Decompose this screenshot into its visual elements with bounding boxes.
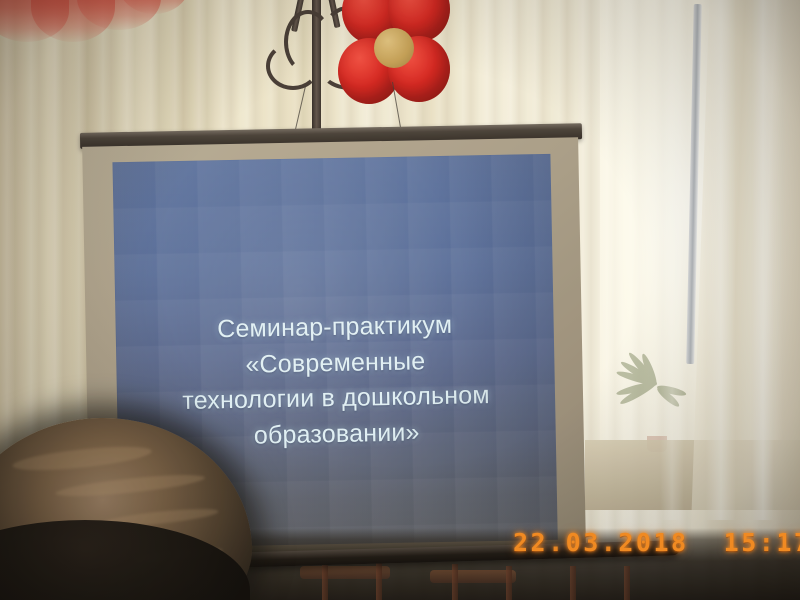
balloon-flower-center (374, 28, 414, 68)
photograph: Семинар-практикум «Современные технологи… (0, 0, 800, 600)
chair-leg (452, 564, 458, 600)
camera-timestamp: 22.03.2018 15:17 (513, 528, 800, 557)
timestamp-year: 2018 (618, 528, 688, 557)
chair-leg (624, 566, 630, 600)
chair-seat (430, 570, 516, 583)
timestamp-month: 03 (566, 528, 601, 557)
timestamp-day: 22 (513, 528, 548, 557)
chair-leg (322, 560, 328, 600)
red-valance (0, 0, 185, 46)
chair-leg (376, 562, 382, 600)
timestamp-minute: 17 (776, 528, 800, 557)
chair-leg (570, 566, 576, 600)
timestamp-hour: 15 (724, 528, 759, 557)
chair-leg (506, 566, 512, 600)
